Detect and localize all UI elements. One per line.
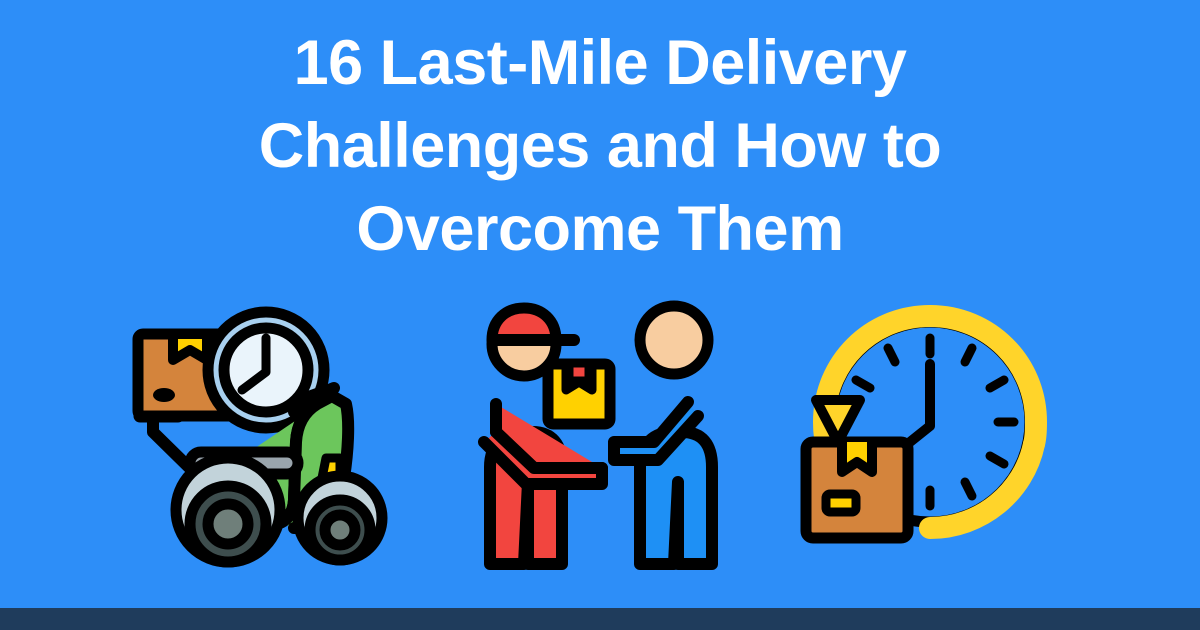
scooter-front-wheel [298, 476, 382, 560]
on-time-delivery-illustration [798, 292, 1048, 562]
ontime-parcel-box [806, 442, 908, 538]
customer-figure [614, 306, 712, 564]
clock-arrow-arc-right [930, 316, 1036, 444]
ontime-parcel-tape [842, 442, 872, 472]
delivery-scooter-illustration [118, 292, 393, 572]
illustration-row [0, 292, 1200, 584]
page-title: 16 Last-Mile Delivery Challenges and How… [120, 22, 1080, 271]
package-handoff-illustration [462, 292, 742, 577]
customer-head [640, 306, 708, 374]
promo-banner: 16 Last-Mile Delivery Challenges and How… [0, 0, 1200, 630]
courier-figure [484, 308, 602, 564]
scooter-rear-wheel [176, 458, 280, 562]
handoff-package [548, 364, 610, 424]
title-block: 16 Last-Mile Delivery Challenges and How… [0, 22, 1200, 271]
footer-bar [0, 608, 1200, 630]
ontime-parcel-label [826, 494, 856, 512]
